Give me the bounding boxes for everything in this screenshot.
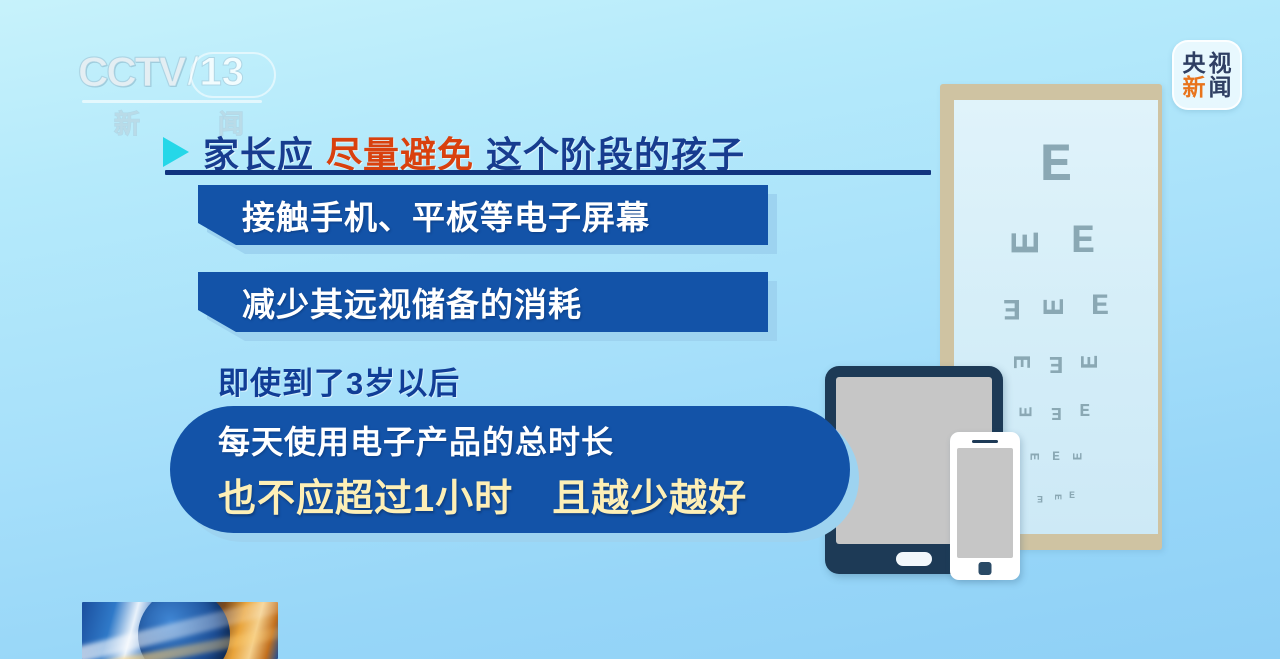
news-badge-char-yang: 央 [1183, 52, 1206, 75]
eye-chart-optotype-e: E [1071, 223, 1095, 263]
eye-chart-optotype-e: E [1079, 403, 1090, 421]
eye-chart-optotype-e: E [1009, 231, 1049, 255]
eye-chart-optotype-e: E [1069, 492, 1075, 502]
banner-screens: 接触手机、平板等电子屏幕 [198, 185, 768, 245]
eye-chart-optotype-e: E [1037, 492, 1043, 502]
smartphone-device [950, 432, 1020, 580]
eye-chart-optotype-e: E [1018, 407, 1036, 418]
news-badge-char-shi: 视 [1209, 52, 1232, 75]
cctv-news-badge: 央 视 新 闻 [1172, 40, 1242, 110]
eye-chart-optotype-e: E [1051, 494, 1061, 500]
banner-reserve: 减少其远视储备的消耗 [198, 272, 768, 332]
banner-screens-label: 接触手机、平板等电子屏幕 [242, 191, 650, 239]
eye-chart-optotype-e: E [1041, 298, 1071, 316]
banner-reserve-band: 减少其远视储备的消耗 [198, 272, 768, 332]
cctv-logo-underline [82, 100, 262, 103]
eye-chart-optotype-e: E [1071, 452, 1084, 460]
illustration-group: EEEEEEEEEEEEEEEEEE [940, 84, 1180, 584]
eye-chart-optotype-e: E [1049, 350, 1063, 374]
news-badge-char-wen: 闻 [1209, 76, 1232, 99]
phone-speaker [972, 440, 998, 443]
cctv13-channel-logo: CCTV / 13 新 闻 [78, 48, 268, 132]
cctv-logo-wordmark: CCTV [78, 48, 184, 96]
eye-chart-optotype-e: E [1052, 450, 1060, 463]
news-graphic-bumper [82, 602, 278, 659]
news-badge-line-1: 央 视 [1183, 52, 1232, 75]
phone-screen [957, 448, 1013, 558]
pill-banner: 每天使用电子产品的总时长 也不应超过1小时 且越少越好 [170, 406, 850, 533]
eye-chart-optotype-e: E [1040, 140, 1072, 194]
cctv-logo-subtitle-char-1: 新 [114, 104, 140, 141]
pill-banner-band: 每天使用电子产品的总时长 也不应超过1小时 且越少越好 [170, 406, 850, 533]
pill-banner-line-2: 也不应超过1小时 且越少越好 [218, 467, 850, 522]
eye-chart-optotype-e: E [1003, 292, 1021, 322]
banner-reserve-label: 减少其远视储备的消耗 [242, 278, 582, 326]
eye-chart-optotype-e: E [1091, 292, 1109, 322]
eye-chart-row: EEE [954, 292, 1158, 322]
cctv-logo-oval [190, 52, 276, 98]
phone-home-button [979, 562, 992, 575]
eye-chart-optotype-e: E [1008, 355, 1032, 369]
eye-chart-row: E [954, 140, 1158, 194]
tablet-home-button [896, 552, 932, 566]
eye-chart-optotype-e: E [1028, 452, 1041, 460]
eye-chart-optotype-e: E [1080, 355, 1104, 369]
triangle-right-icon [163, 137, 189, 167]
banner-screens-band: 接触手机、平板等电子屏幕 [198, 185, 768, 245]
eye-chart-optotype-e: E [1051, 403, 1062, 421]
pill-banner-line-1: 每天使用电子产品的总时长 [218, 417, 850, 463]
news-badge-char-xin: 新 [1183, 76, 1206, 99]
news-badge-line-2: 新 闻 [1183, 76, 1232, 99]
eye-chart-row: EE [954, 223, 1158, 263]
mid-note-text: 即使到了3岁以后 [218, 358, 460, 403]
headline-divider [165, 170, 931, 175]
